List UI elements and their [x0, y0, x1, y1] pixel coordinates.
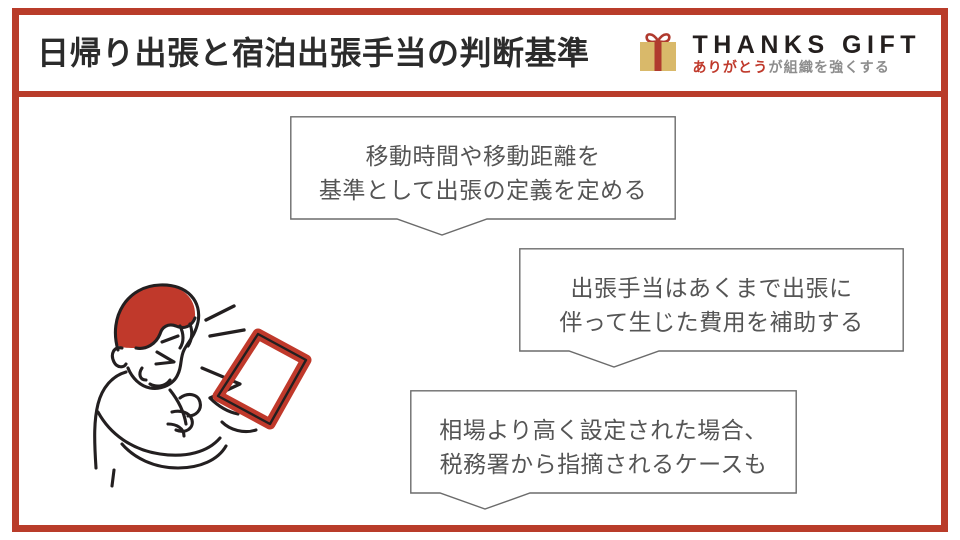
person-pointing-at-tablet-illustration — [62, 272, 314, 492]
frame-border-right — [941, 8, 948, 532]
slide-header: 日帰り出張と宿泊出張手当の判断基準 THANKS GIFT ありがとうが組織を強… — [19, 15, 941, 91]
bubble-2-line-1: 出張手当はあくまで出張に — [571, 271, 853, 306]
logo-tagline-rest: が組織を強くする — [768, 59, 890, 75]
bubble-2-line-2: 伴って生じた費用を補助する — [559, 305, 863, 340]
header-divider-rule — [19, 91, 941, 97]
bubble-1-line-2: 基準として出張の定義を定める — [319, 173, 647, 208]
speech-bubble-1: 移動時間や移動距離を 基準として出張の定義を定める — [290, 116, 676, 236]
logo-brand-name: THANKS GIFT — [692, 33, 921, 58]
logo-text-block: THANKS GIFT ありがとうが組織を強くする — [692, 33, 921, 74]
gift-box-icon — [636, 30, 680, 76]
brand-logo: THANKS GIFT ありがとうが組織を強くする — [636, 30, 925, 76]
speech-bubble-3-text: 相場より高く設定された場合、 税務署から指摘されるケースも — [410, 390, 797, 510]
frame-border-top — [12, 8, 948, 15]
frame-border-left — [12, 8, 19, 532]
bubble-3-line-1: 相場より高く設定された場合、 — [439, 413, 768, 448]
frame-border-bottom — [12, 525, 948, 532]
slide-canvas: 日帰り出張と宿泊出張手当の判断基準 THANKS GIFT ありがとうが組織を強… — [0, 0, 960, 540]
speech-bubble-3: 相場より高く設定された場合、 税務署から指摘されるケースも — [410, 390, 797, 510]
page-title: 日帰り出張と宿泊出張手当の判断基準 — [37, 37, 590, 69]
bubble-3-line-2: 税務署から指摘されるケースも — [440, 447, 768, 482]
speech-bubble-2-text: 出張手当はあくまで出張に 伴って生じた費用を補助する — [519, 248, 904, 368]
logo-tagline: ありがとうが組織を強くする — [692, 60, 921, 74]
speech-bubble-2: 出張手当はあくまで出張に 伴って生じた費用を補助する — [519, 248, 904, 368]
logo-tagline-accent: ありがとう — [692, 59, 768, 75]
bubble-1-line-1: 移動時間や移動距離を — [366, 139, 601, 174]
speech-bubble-1-text: 移動時間や移動距離を 基準として出張の定義を定める — [290, 116, 676, 236]
